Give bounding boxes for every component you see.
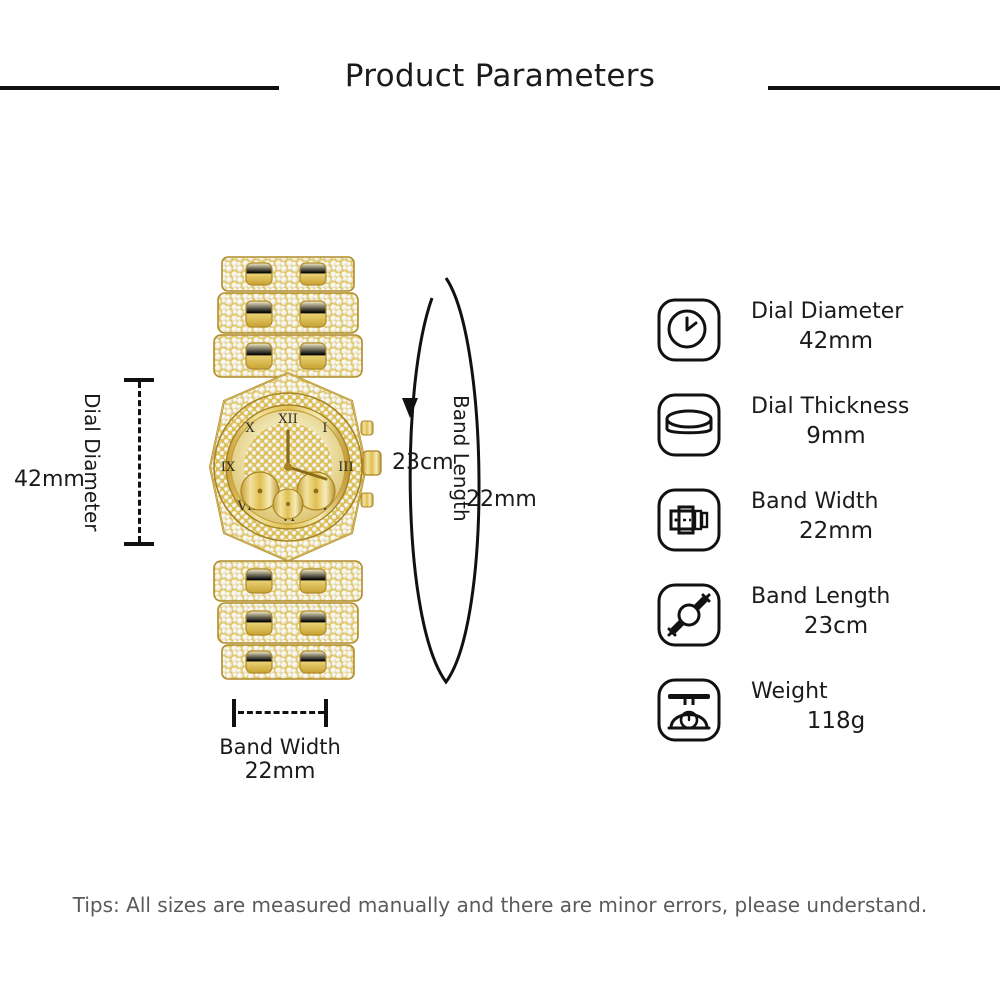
svg-text:I: I (322, 421, 327, 436)
weight-scale-icon (655, 676, 723, 744)
dimension-cap-left (232, 699, 236, 727)
spec-label: Dial Diameter (751, 298, 971, 326)
spec-value: 9mm (751, 421, 921, 451)
spec-text-dial-diameter: Dial Diameter 42mm (751, 298, 971, 356)
band-loop-width-value: 22mm (466, 487, 537, 512)
spec-list: Dial Diameter 42mm Dial Thickness 9mm (655, 296, 985, 771)
spec-value: 22mm (751, 516, 921, 546)
svg-text:IX: IX (221, 460, 236, 475)
watch-case: XII X IX VIII VI V III I (210, 373, 381, 561)
band-buckle-icon (655, 486, 723, 554)
spec-label: Band Length (751, 583, 971, 611)
spec-label: Band Width (751, 488, 971, 516)
spec-text-band-width: Band Width 22mm (751, 488, 971, 546)
band-length-loop-value: 23cm (392, 450, 454, 475)
dimension-cap-right (324, 699, 328, 727)
watch-bracelet-upper (214, 257, 362, 377)
spec-row-band-width: Band Width 22mm (655, 486, 985, 581)
spec-label: Weight (751, 678, 971, 706)
watch-bracelet-lower (214, 561, 362, 679)
watch-dial-icon (655, 296, 723, 364)
svg-text:III: III (338, 460, 353, 475)
tips-footer: Tips: All sizes are measured manually an… (0, 893, 1000, 917)
band-length-icon (655, 581, 723, 649)
page-header: Product Parameters (0, 58, 1000, 120)
dimension-line-vertical (138, 382, 141, 542)
dimension-line-horizontal (238, 711, 324, 714)
dial-diameter-dimension-value: 42mm (14, 467, 84, 492)
spec-text-band-length: Band Length 23cm (751, 583, 971, 641)
spec-row-weight: Weight 118g (655, 676, 985, 771)
spec-row-dial-diameter: Dial Diameter 42mm (655, 296, 985, 391)
title-rule-right (768, 86, 1000, 90)
spec-value: 23cm (751, 611, 921, 641)
spec-row-dial-thickness: Dial Thickness 9mm (655, 391, 985, 486)
band-width-dimension-value: 22mm (180, 759, 380, 784)
svg-text:X: X (245, 421, 255, 436)
band-width-dimension-label: Band Width (180, 735, 380, 759)
watch-product-image: XII X IX VIII VI V III I (160, 255, 420, 685)
spec-row-band-length: Band Length 23cm (655, 581, 985, 676)
spec-value: 118g (751, 706, 921, 736)
dial-diameter-dimension-label: Dial Diameter (78, 385, 104, 540)
dimension-cap-bottom (124, 542, 154, 546)
spec-text-weight: Weight 118g (751, 678, 971, 736)
spec-text-dial-thickness: Dial Thickness 9mm (751, 393, 971, 451)
svg-text:XII: XII (278, 412, 298, 427)
spec-label: Dial Thickness (751, 393, 971, 421)
dial-thickness-icon (655, 391, 723, 459)
spec-value: 42mm (751, 326, 921, 356)
